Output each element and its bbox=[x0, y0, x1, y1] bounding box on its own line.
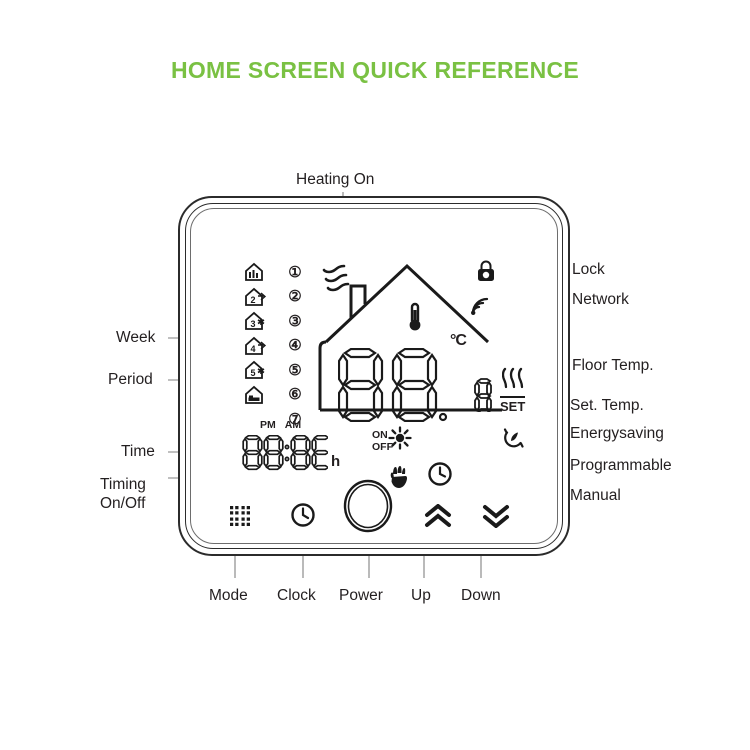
svg-text:3: 3 bbox=[251, 319, 256, 329]
house-period-1-icon bbox=[244, 260, 274, 285]
callout-week: Week bbox=[116, 328, 155, 347]
down-button[interactable] bbox=[482, 504, 510, 528]
set-temp-label: SET bbox=[500, 396, 525, 414]
heating-waves-icon bbox=[322, 262, 352, 299]
padlock-icon bbox=[476, 260, 496, 288]
eco-leaf-icon bbox=[502, 426, 526, 455]
power-button[interactable] bbox=[342, 478, 394, 534]
callout-power: Power bbox=[339, 586, 383, 605]
chevron-double-down-icon bbox=[482, 504, 510, 528]
clock-seven-segment-digits: h bbox=[242, 435, 340, 471]
week-day-1: ① bbox=[282, 260, 308, 285]
house-period-6-sleep-icon bbox=[244, 383, 274, 408]
callout-period: Period bbox=[108, 370, 153, 389]
time-display: PMAM bbox=[242, 435, 340, 471]
callout-timing-line2: On/Off bbox=[100, 494, 146, 513]
week-day-3: ③ bbox=[282, 309, 308, 334]
svg-text:2: 2 bbox=[251, 295, 256, 305]
callout-clock: Clock bbox=[277, 586, 316, 605]
house-period-4-icon: 4 bbox=[244, 334, 274, 359]
callout-set-temp: Set. Temp. bbox=[570, 396, 644, 415]
house-period-2-icon: 2 bbox=[244, 285, 274, 310]
main-temperature-value bbox=[338, 348, 450, 422]
up-button[interactable] bbox=[424, 504, 452, 528]
timing-on-label: ON bbox=[372, 429, 393, 441]
callout-heating-on: Heating On bbox=[296, 170, 374, 189]
callout-energysaving: Energysaving bbox=[570, 424, 664, 443]
lcd-display: 2 3 4 bbox=[202, 220, 546, 488]
thermostat-device[interactable]: 2 3 4 bbox=[178, 196, 570, 556]
callout-mode: Mode bbox=[209, 586, 248, 605]
week-day-2: ② bbox=[282, 285, 308, 310]
mode-button[interactable] bbox=[228, 504, 252, 528]
floor-heating-waves-icon bbox=[502, 366, 528, 395]
house-period-5-icon: 5 bbox=[244, 358, 274, 383]
callout-lock: Lock bbox=[572, 260, 605, 279]
week-day-4: ④ bbox=[282, 334, 308, 359]
am-pm-indicators: PMAM bbox=[260, 419, 310, 431]
wifi-signal-icon bbox=[470, 296, 493, 321]
thermometer-icon bbox=[407, 302, 423, 339]
power-circle-icon bbox=[342, 478, 394, 534]
callout-time: Time bbox=[121, 442, 155, 461]
timing-off-label: OFF bbox=[372, 441, 393, 453]
house-period-3-icon: 3 bbox=[244, 309, 274, 334]
callout-network: Network bbox=[572, 290, 629, 309]
temperature-unit-label: °C bbox=[450, 332, 466, 350]
chevron-double-up-icon bbox=[424, 504, 452, 528]
grid-squares-icon bbox=[228, 504, 252, 528]
period-indicator-column: 2 3 4 bbox=[244, 260, 274, 407]
callout-timing-line1: Timing bbox=[100, 475, 146, 494]
set-temperature-digit bbox=[474, 378, 492, 417]
week-day-5: ⑤ bbox=[282, 358, 308, 383]
svg-text:4: 4 bbox=[251, 344, 256, 354]
timing-on-off-indicator: ON OFF bbox=[372, 429, 393, 453]
callout-programmable: Programmable bbox=[570, 456, 672, 475]
callout-down: Down bbox=[461, 586, 501, 605]
clock-button[interactable] bbox=[290, 502, 316, 528]
callout-manual: Manual bbox=[570, 486, 621, 505]
callout-floor-temp: Floor Temp. bbox=[572, 356, 654, 375]
button-row bbox=[202, 478, 546, 534]
week-day-6: ⑥ bbox=[282, 383, 308, 408]
callout-timing-on-off: Timing On/Off bbox=[100, 475, 146, 513]
svg-text:5: 5 bbox=[251, 368, 256, 378]
callout-up: Up bbox=[411, 586, 431, 605]
clock-icon bbox=[290, 502, 316, 528]
pm-label: PM bbox=[260, 419, 276, 431]
am-label: AM bbox=[285, 419, 301, 431]
week-indicator-column: ① ② ③ ④ ⑤ ⑥ ⑦ bbox=[282, 260, 308, 432]
hour-unit-label: h bbox=[331, 453, 340, 470]
